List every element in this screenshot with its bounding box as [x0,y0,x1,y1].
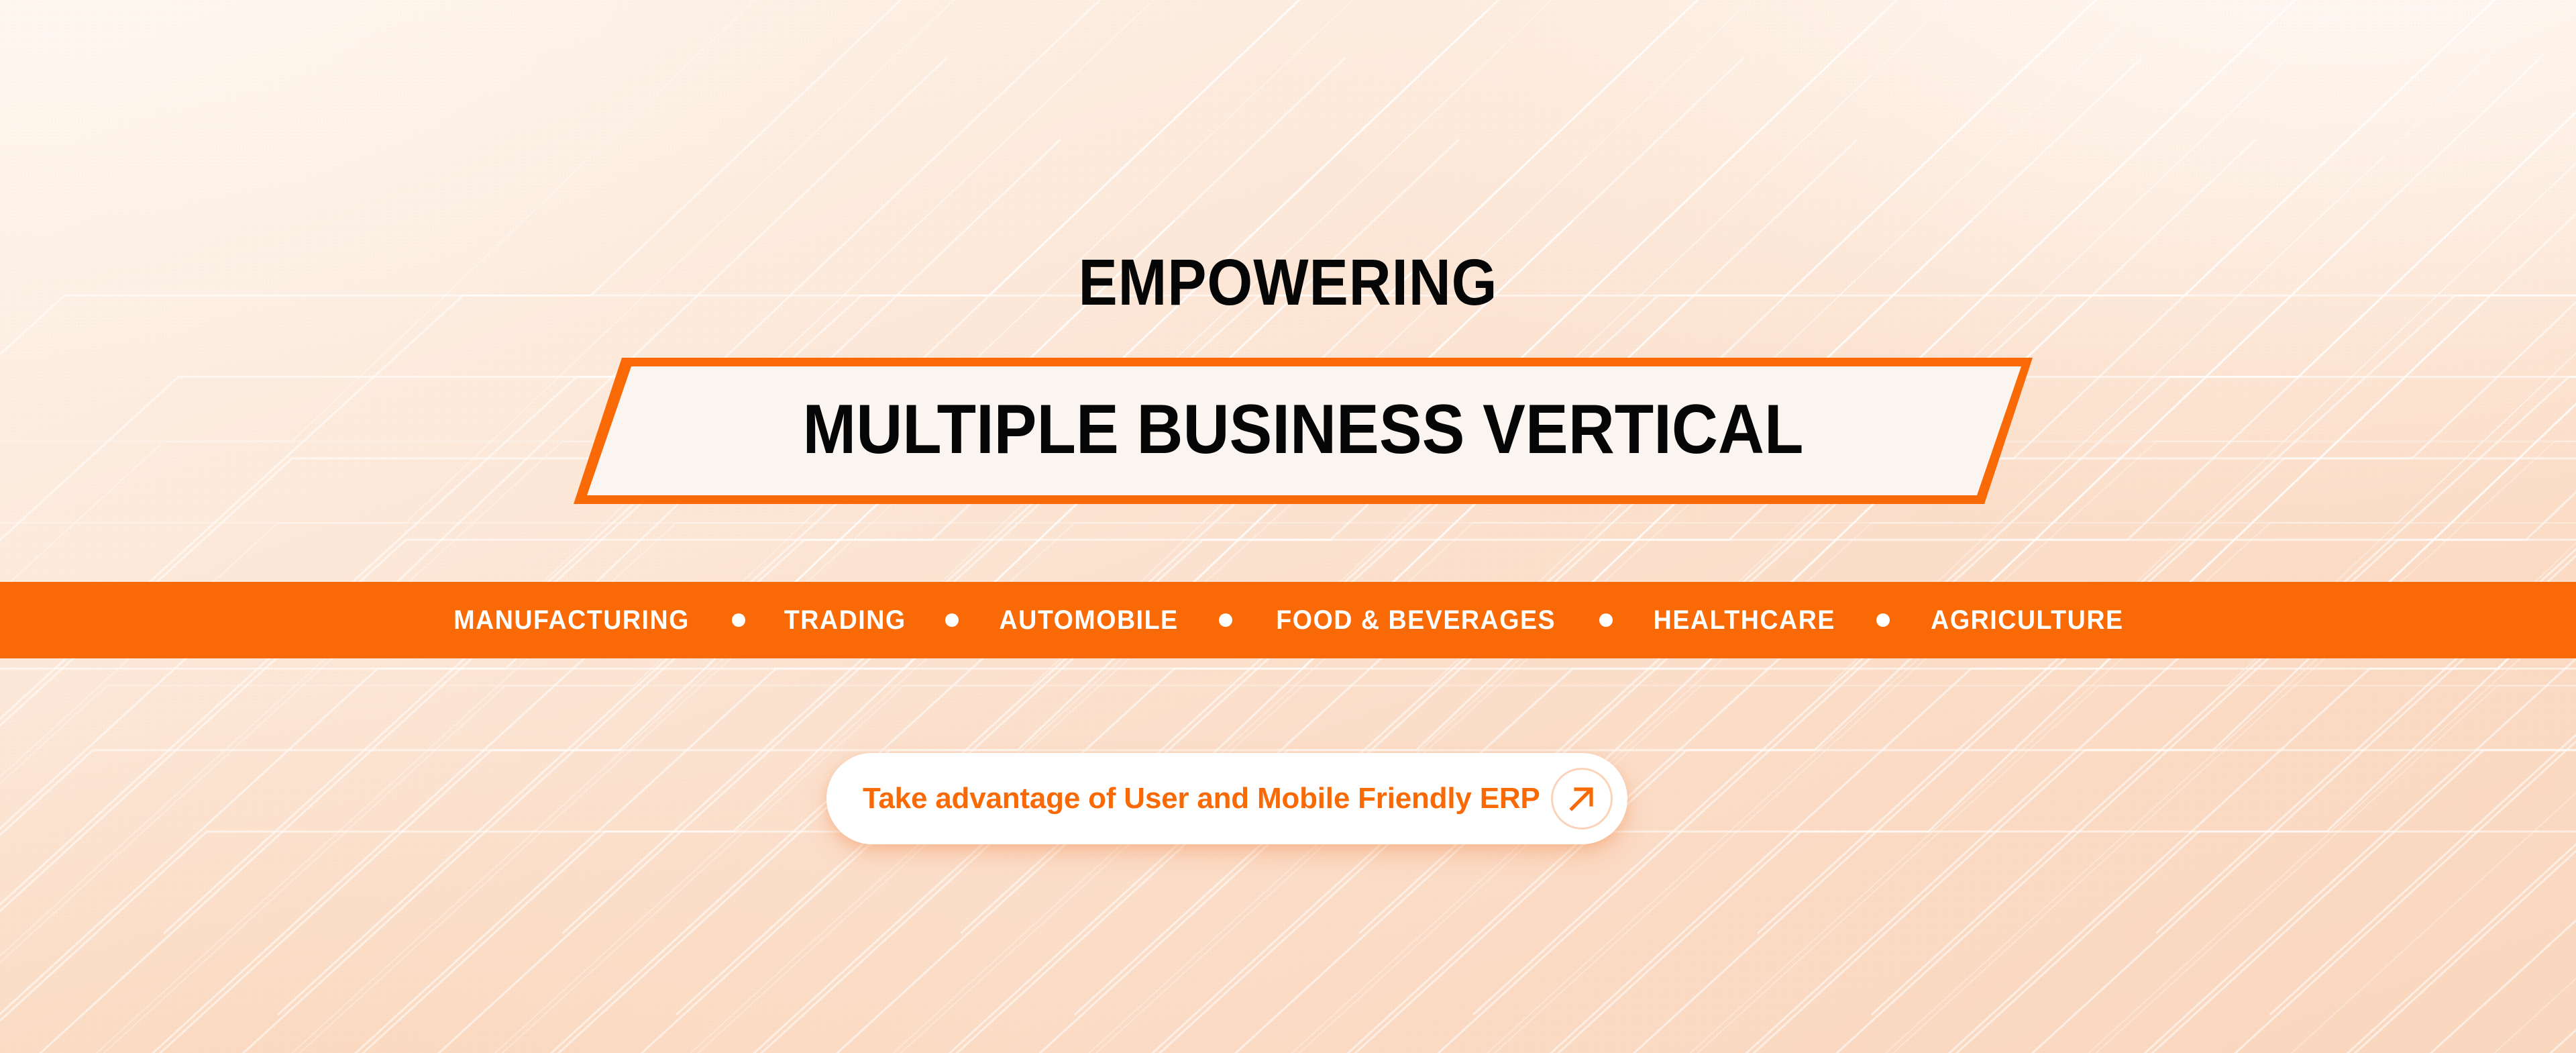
arrow-up-right-icon[interactable] [1551,768,1613,830]
separator-dot-icon [945,613,959,627]
business-verticals-list: MANUFACTURING TRADING AUTOMOBILE FOOD & … [446,605,2129,636]
vertical-item-manufacturing[interactable]: MANUFACTURING [454,605,690,636]
vertical-item-trading[interactable]: TRADING [784,605,906,636]
headline-badge: MULTIPLE BUSINESS VERTICAL [574,358,2033,504]
separator-dot-icon [1219,613,1232,627]
cta-label: Take advantage of User and Mobile Friend… [863,782,1540,815]
separator-dot-icon [732,613,745,627]
separator-dot-icon [1876,613,1890,627]
vertical-item-agriculture[interactable]: AGRICULTURE [1931,605,2123,636]
background-noise-texture [0,0,2576,1053]
separator-dot-icon [1599,613,1613,627]
vertical-item-automobile[interactable]: AUTOMOBILE [999,605,1178,636]
vertical-item-food-and-beverages[interactable]: FOOD & BEVERAGES [1276,605,1556,636]
vertical-item-healthcare[interactable]: HEALTHCARE [1654,605,1835,636]
hero-banner: EMPOWERING MULTIPLE BUSINESS VERTICAL MA… [0,0,2576,1053]
page-subtitle: MULTIPLE BUSINESS VERTICAL [632,358,1974,504]
page-title: EMPOWERING [129,250,2447,315]
business-verticals-bar: MANUFACTURING TRADING AUTOMOBILE FOOD & … [0,582,2576,658]
cta-button[interactable]: Take advantage of User and Mobile Friend… [826,753,1627,844]
